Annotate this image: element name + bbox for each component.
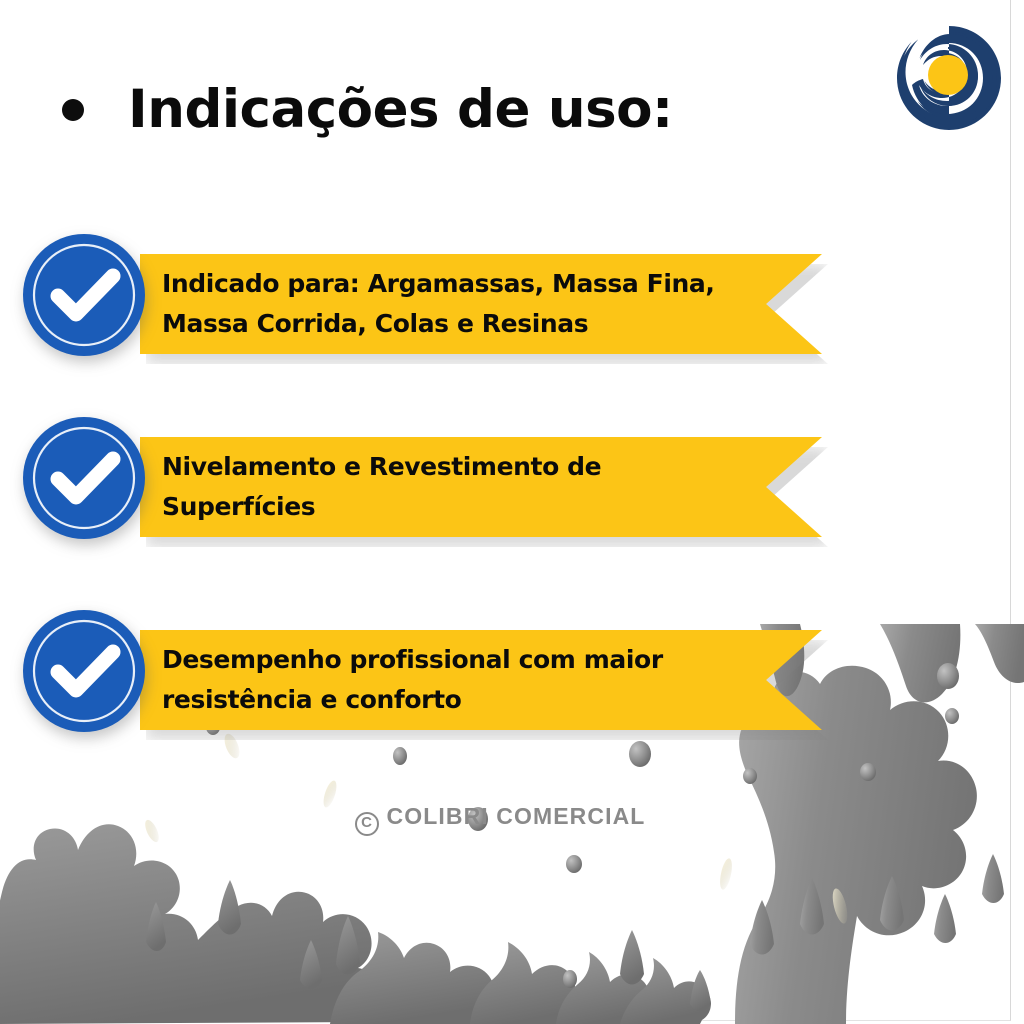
page-title: Indicações de uso: <box>128 82 673 138</box>
ribbon-line: resistência e conforto <box>162 680 762 720</box>
ribbon-line: Massa Corrida, Colas e Resinas <box>162 304 762 344</box>
ribbon-text: Indicado para: Argamassas, Massa Fina, M… <box>162 254 762 354</box>
check-circle-icon <box>21 232 147 358</box>
ribbon-banner: Nivelamento e Revestimento de Superfície… <box>140 437 822 537</box>
page-title-row: Indicações de uso: <box>62 82 673 138</box>
check-circle-icon <box>21 415 147 541</box>
ribbon-banner: Indicado para: Argamassas, Massa Fina, M… <box>140 254 822 354</box>
ribbon-line: Indicado para: Argamassas, Massa Fina, <box>162 264 762 304</box>
ribbon-line: Desempenho profissional com maior <box>162 640 762 680</box>
ribbon-banner: Desempenho profissional com maior resist… <box>140 630 822 730</box>
slide-canvas: Indicações de uso: Indicado para: Argama… <box>0 0 1024 1024</box>
watermark: CCOLIBRI COMERCIAL <box>0 803 1000 836</box>
check-circle-icon <box>21 608 147 734</box>
watermark-text: COLIBRI COMERCIAL <box>387 803 646 829</box>
ribbon-text: Desempenho profissional com maior resist… <box>162 630 762 730</box>
copyright-icon: C <box>355 812 379 836</box>
ribbon-line: Superfícies <box>162 487 762 527</box>
ribbon-text: Nivelamento e Revestimento de Superfície… <box>162 437 762 537</box>
title-bullet-icon <box>62 99 84 121</box>
ribbon-line: Nivelamento e Revestimento de <box>162 447 762 487</box>
colibri-spiral-logo <box>893 22 1005 134</box>
